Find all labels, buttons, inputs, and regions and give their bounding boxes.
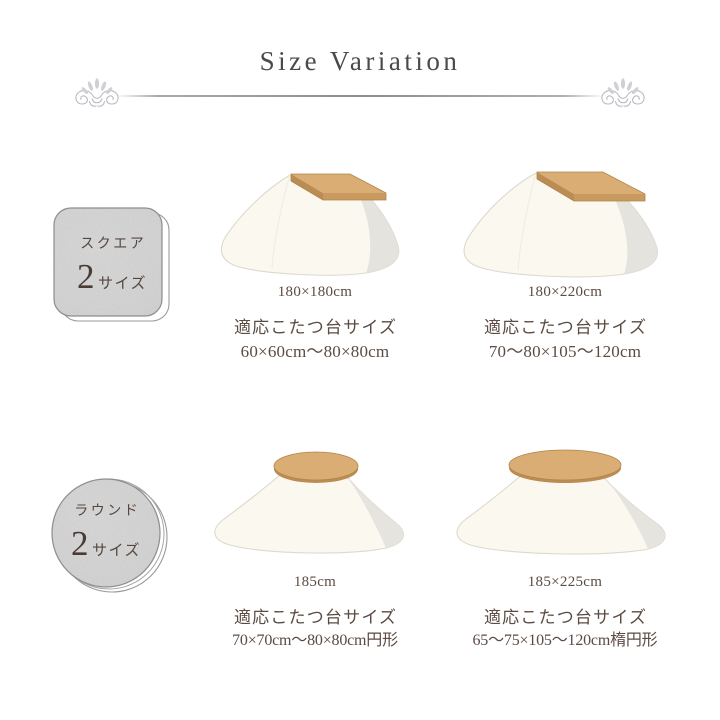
badge-square: スクエア 2 サイズ [48, 202, 176, 330]
badge-square-unit: サイズ [96, 277, 147, 292]
fit-value: 70〜80×105〜120cm [440, 341, 690, 362]
fit-label: 適応こたつ台サイズ [440, 607, 690, 628]
horizontal-rule [118, 95, 602, 97]
product-captions: 185cm 適応こたつ台サイズ 70×70cm〜80×80cm円形 [190, 575, 440, 651]
product-cell-oval-185x225: 185×225cm 適応こたつ台サイズ 65〜75×105〜120cm楕円形 [440, 445, 690, 651]
product-size: 180×220cm [440, 285, 690, 300]
kotatsu-round-illustration [190, 445, 440, 575]
badge-round: ラウンド 2 サイズ [46, 472, 174, 600]
flourish-ornament-left [62, 78, 132, 118]
badge-square-kana: スクエア [78, 238, 147, 252]
badge-round-count: 2 [71, 526, 89, 561]
badge-round-unit: サイズ [90, 544, 141, 559]
fit-label: 適応こたつ台サイズ [440, 317, 690, 338]
product-captions: 180×220cm 適応こたつ台サイズ 70〜80×105〜120cm [440, 285, 690, 363]
kotatsu-oval-illustration [440, 445, 690, 575]
section-square: スクエア 2 サイズ [0, 140, 720, 390]
product-cell-square-180x180: 180×180cm 適応こたつ台サイズ 60×60cm〜80×80cm [190, 140, 440, 363]
badge-square-label: スクエア 2 サイズ [48, 202, 176, 330]
section-round: ラウンド 2 サイズ 185c [0, 430, 720, 680]
fit-value: 70×70cm〜80×80cm円形 [190, 631, 440, 651]
product-cell-round-185: 185cm 適応こたつ台サイズ 70×70cm〜80×80cm円形 [190, 445, 440, 651]
fit-value: 65〜75×105〜120cm楕円形 [440, 631, 690, 651]
fit-value: 60×60cm〜80×80cm [190, 341, 440, 362]
size-variation-page: Size Variation [0, 0, 720, 720]
badge-round-label: ラウンド 2 サイズ [42, 469, 170, 597]
kotatsu-rectangle-illustration [440, 140, 690, 285]
page-title: Size Variation [0, 48, 720, 75]
product-size: 180×180cm [190, 285, 440, 300]
product-cell-square-180x220: 180×220cm 適応こたつ台サイズ 70〜80×105〜120cm [440, 140, 690, 363]
kotatsu-square-illustration [190, 140, 440, 285]
product-size: 185cm [190, 575, 440, 590]
title-divider [0, 78, 720, 120]
product-captions: 180×180cm 適応こたつ台サイズ 60×60cm〜80×80cm [190, 285, 440, 363]
product-size: 185×225cm [440, 575, 690, 590]
product-captions: 185×225cm 適応こたつ台サイズ 65〜75×105〜120cm楕円形 [440, 575, 690, 651]
flourish-ornament-right [588, 78, 658, 118]
badge-square-count: 2 [77, 259, 95, 294]
badge-round-kana: ラウンド [72, 505, 141, 519]
fit-label: 適応こたつ台サイズ [190, 607, 440, 628]
fit-label: 適応こたつ台サイズ [190, 317, 440, 338]
page-header: Size Variation [0, 0, 720, 120]
